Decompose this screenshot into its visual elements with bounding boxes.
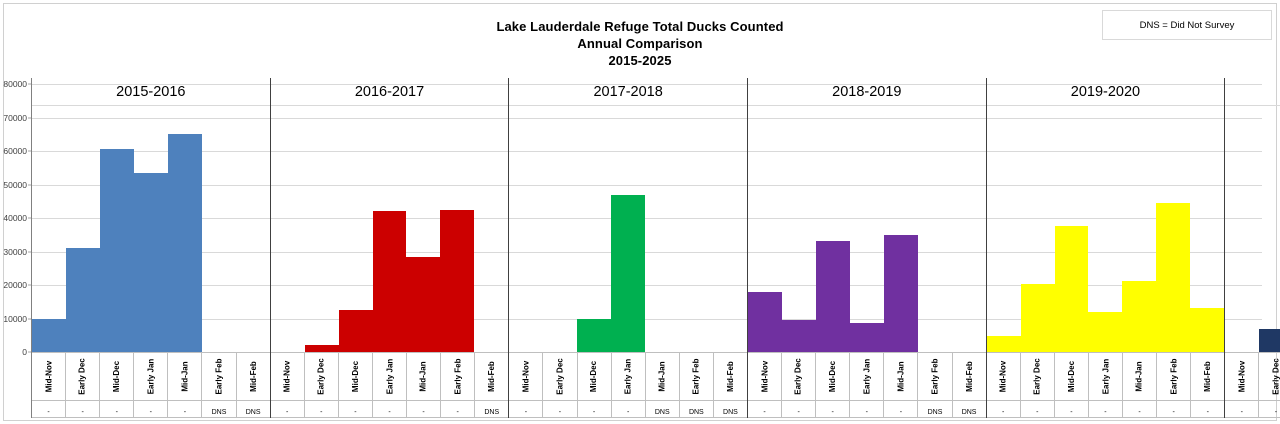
x-axis-tick-label: Early Feb xyxy=(441,353,475,400)
bar-cell xyxy=(577,106,611,352)
bar-cell xyxy=(850,106,884,352)
x-axis-tick-label: Early Dec xyxy=(66,353,100,400)
bar-cell xyxy=(168,106,202,352)
bar-cell xyxy=(748,106,782,352)
bar-cell xyxy=(1088,106,1122,352)
survey-status-surveyed: - xyxy=(168,401,202,417)
x-axis-tick-label: Early Dec xyxy=(305,353,339,400)
bar-cell xyxy=(713,106,747,352)
bar[interactable] xyxy=(1190,308,1224,352)
bar-cell xyxy=(611,106,645,352)
x-axis-tick-label: Mid-Jan xyxy=(168,353,202,400)
x-axis-tick-label: Mid-Nov xyxy=(987,353,1021,400)
x-axis-tick-label: Mid-Nov xyxy=(1225,353,1259,400)
bar[interactable] xyxy=(782,320,816,352)
x-axis-label-row: Mid-NovEarly DecMid-DecEarly JanMid-JanE… xyxy=(987,352,1225,400)
bar-cell xyxy=(474,106,508,352)
bar-cell xyxy=(202,106,236,352)
bar-cell xyxy=(918,106,952,352)
x-axis-tick-label: Mid-Nov xyxy=(32,353,66,400)
bar-cell xyxy=(816,106,850,352)
bar[interactable] xyxy=(987,336,1021,352)
chart-screenshot: Lake Lauderdale Refuge Total Ducks Count… xyxy=(0,0,1280,424)
bar[interactable] xyxy=(440,210,474,352)
y-axis-tick-label: 50000 xyxy=(3,180,27,190)
x-axis-tick-label: Early Dec xyxy=(782,353,816,400)
bar[interactable] xyxy=(748,292,782,352)
survey-status-dns: DNS xyxy=(953,401,986,417)
survey-status-surveyed: - xyxy=(1259,401,1280,417)
bar[interactable] xyxy=(1088,312,1122,352)
group-bars xyxy=(509,106,747,352)
x-axis-tick-label: Mid-Dec xyxy=(100,353,134,400)
bar[interactable] xyxy=(100,149,134,352)
bar-cell xyxy=(1190,106,1224,352)
survey-status-dns: DNS xyxy=(237,401,270,417)
group-season-label: 2018-2019 xyxy=(748,78,986,106)
survey-status-surveyed: - xyxy=(1157,401,1191,417)
group-bars xyxy=(1225,106,1280,352)
survey-status-surveyed: - xyxy=(612,401,646,417)
bar-cell xyxy=(339,106,373,352)
group-season-label: 2015-2016 xyxy=(32,78,270,106)
bar-groups: 2015-2016Mid-NovEarly DecMid-DecEarly Ja… xyxy=(32,78,1262,418)
x-axis-label-row: Mid-NovEarly DecMid-DecEarly JanMid-JanE… xyxy=(32,352,270,400)
survey-status-surveyed: - xyxy=(578,401,612,417)
survey-status-surveyed: - xyxy=(509,401,543,417)
group-season-label: 2016-2017 xyxy=(271,78,509,106)
y-axis-tick-label: 70000 xyxy=(3,113,27,123)
bar-group: 2016-2017Mid-NovEarly DecMid-DecEarly Ja… xyxy=(271,78,510,418)
bar-cell xyxy=(1259,106,1280,352)
bar[interactable] xyxy=(611,195,645,352)
bar-cell xyxy=(100,106,134,352)
bar-group: 2018-2019Mid-NovEarly DecMid-DecEarly Ja… xyxy=(748,78,987,418)
bar[interactable] xyxy=(1122,281,1156,352)
x-axis-tick-label: Mid-Dec xyxy=(578,353,612,400)
survey-status-surveyed: - xyxy=(987,401,1021,417)
x-axis-tick-label: Mid-Feb xyxy=(953,353,986,400)
x-axis-label-row: Mid-NovEarly DecMid-DecEarly JanMid-JanE… xyxy=(271,352,509,400)
bar[interactable] xyxy=(884,235,918,352)
bar-cell xyxy=(543,106,577,352)
survey-status-row: ------- xyxy=(987,400,1225,418)
bar[interactable] xyxy=(373,211,407,352)
survey-status-surveyed: - xyxy=(271,401,305,417)
survey-status-surveyed: - xyxy=(407,401,441,417)
group-bars xyxy=(987,106,1225,352)
x-axis-tick-label: Early Feb xyxy=(918,353,952,400)
survey-status-dns: DNS xyxy=(646,401,680,417)
group-bars xyxy=(271,106,509,352)
x-axis-tick-label: Mid-Feb xyxy=(1191,353,1224,400)
survey-status-surveyed: - xyxy=(1225,401,1259,417)
x-axis-tick-label: Mid-Dec xyxy=(1055,353,1089,400)
bar[interactable] xyxy=(134,173,168,352)
survey-status-row: ------DNS xyxy=(1225,400,1280,418)
bar-cell xyxy=(134,106,168,352)
bar-cell xyxy=(305,106,339,352)
bar-cell xyxy=(66,106,100,352)
survey-status-surveyed: - xyxy=(1191,401,1224,417)
survey-status-surveyed: - xyxy=(816,401,850,417)
bar-cell xyxy=(1225,106,1259,352)
x-axis-tick-label: Early Jan xyxy=(612,353,646,400)
bar-cell xyxy=(782,106,816,352)
survey-status-surveyed: - xyxy=(1055,401,1089,417)
group-bars xyxy=(748,106,986,352)
survey-status-surveyed: - xyxy=(1123,401,1157,417)
survey-status-dns: DNS xyxy=(918,401,952,417)
survey-status-dns: DNS xyxy=(475,401,508,417)
x-axis-tick-label: Mid-Jan xyxy=(1123,353,1157,400)
bar[interactable] xyxy=(1156,203,1190,352)
x-axis-tick-label: Mid-Feb xyxy=(475,353,508,400)
survey-status-surveyed: - xyxy=(884,401,918,417)
bar-cell xyxy=(1055,106,1089,352)
y-axis-tick-label: 20000 xyxy=(3,280,27,290)
bar-cell xyxy=(32,106,66,352)
x-axis-tick-label: Early Jan xyxy=(1089,353,1123,400)
survey-status-row: ----DNSDNSDNS xyxy=(509,400,747,418)
x-axis-tick-label: Early Dec xyxy=(543,353,577,400)
bar[interactable] xyxy=(850,323,884,352)
x-axis-tick-label: Mid-Dec xyxy=(339,353,373,400)
bar-cell xyxy=(406,106,440,352)
bar-cell xyxy=(236,106,270,352)
group-season-label: 2019-2020 xyxy=(987,78,1225,106)
x-axis-tick-label: Early Jan xyxy=(850,353,884,400)
bar[interactable] xyxy=(577,319,611,352)
group-bars xyxy=(32,106,270,352)
bar[interactable] xyxy=(1055,226,1089,352)
bar-cell xyxy=(373,106,407,352)
y-axis: 0100002000030000400005000060000700008000… xyxy=(0,78,31,352)
bar[interactable] xyxy=(66,248,100,352)
y-axis-tick-label: 30000 xyxy=(3,247,27,257)
bar[interactable] xyxy=(168,134,202,352)
survey-status-surveyed: - xyxy=(32,401,66,417)
x-axis-tick-label: Early Dec xyxy=(1259,353,1280,400)
survey-status-row: -----DNSDNS xyxy=(748,400,986,418)
bar[interactable] xyxy=(305,345,339,352)
x-axis-tick-label: Mid-Nov xyxy=(748,353,782,400)
bar[interactable] xyxy=(1259,329,1280,352)
bar-cell xyxy=(1021,106,1055,352)
x-axis-label-row: Mid-NovEarly DecMid-DecEarly JanMid-JanE… xyxy=(509,352,747,400)
x-axis-tick-label: Mid-Jan xyxy=(646,353,680,400)
x-axis-tick-label: Early Feb xyxy=(202,353,236,400)
y-axis-tick-label: 0 xyxy=(22,347,27,357)
y-axis-tick-label: 60000 xyxy=(3,146,27,156)
bar[interactable] xyxy=(339,310,373,352)
y-axis-tick-label: 10000 xyxy=(3,314,27,324)
x-axis-tick-label: Mid-Nov xyxy=(509,353,543,400)
x-axis-label-row: Mid-NovEarly DecMid-DecEarly JanMid-JanE… xyxy=(1225,352,1280,400)
bar-cell xyxy=(645,106,679,352)
plot-wrapper: 0100002000030000400005000060000700008000… xyxy=(0,78,1280,418)
survey-status-surveyed: - xyxy=(100,401,134,417)
bar-group: 2017-2018Mid-NovEarly DecMid-DecEarly Ja… xyxy=(509,78,748,418)
x-axis-tick-label: Early Dec xyxy=(1021,353,1055,400)
x-axis-tick-label: Mid-Jan xyxy=(884,353,918,400)
x-axis-tick-label: Mid-Nov xyxy=(271,353,305,400)
survey-status-surveyed: - xyxy=(66,401,100,417)
x-axis-label-row: Mid-NovEarly DecMid-DecEarly JanMid-JanE… xyxy=(748,352,986,400)
x-axis-tick-label: Mid-Feb xyxy=(714,353,747,400)
bar-cell xyxy=(440,106,474,352)
survey-status-surveyed: - xyxy=(339,401,373,417)
bar-cell xyxy=(884,106,918,352)
survey-status-surveyed: - xyxy=(782,401,816,417)
x-axis-tick-label: Mid-Jan xyxy=(407,353,441,400)
bar-group: 2015-2016Mid-NovEarly DecMid-DecEarly Ja… xyxy=(32,78,271,418)
x-axis-tick-label: Early Jan xyxy=(373,353,407,400)
survey-status-surveyed: - xyxy=(543,401,577,417)
survey-status-row: ------DNS xyxy=(271,400,509,418)
bar-group: 2020-2021Mid-NovEarly DecMid-DecEarly Ja… xyxy=(1225,78,1280,418)
bar-group: 2019-2020Mid-NovEarly DecMid-DecEarly Ja… xyxy=(987,78,1226,418)
survey-status-surveyed: - xyxy=(1089,401,1123,417)
x-axis-tick-label: Early Jan xyxy=(134,353,168,400)
survey-status-dns: DNS xyxy=(714,401,747,417)
survey-status-surveyed: - xyxy=(850,401,884,417)
survey-status-row: -----DNSDNS xyxy=(32,400,270,418)
survey-status-surveyed: - xyxy=(441,401,475,417)
group-season-label: 2020-2021 xyxy=(1225,78,1280,106)
survey-status-surveyed: - xyxy=(1021,401,1055,417)
survey-status-dns: DNS xyxy=(680,401,714,417)
bar-cell xyxy=(679,106,713,352)
bar-cell xyxy=(952,106,986,352)
dns-legend-text: DNS = Did Not Survey xyxy=(1140,20,1235,31)
bar-cell xyxy=(509,106,543,352)
bar[interactable] xyxy=(406,257,440,352)
bar-cell xyxy=(1156,106,1190,352)
dns-legend: DNS = Did Not Survey xyxy=(1102,10,1272,40)
bar-cell xyxy=(987,106,1021,352)
survey-status-surveyed: - xyxy=(305,401,339,417)
y-axis-tick-label: 80000 xyxy=(3,79,27,89)
y-axis-tick-label: 40000 xyxy=(3,213,27,223)
x-axis-tick-label: Mid-Feb xyxy=(237,353,270,400)
bar[interactable] xyxy=(816,241,850,352)
x-axis-tick-label: Early Feb xyxy=(1157,353,1191,400)
bar-cell xyxy=(1122,106,1156,352)
bar[interactable] xyxy=(32,319,66,353)
plot-area: 2015-2016Mid-NovEarly DecMid-DecEarly Ja… xyxy=(31,78,1262,418)
survey-status-surveyed: - xyxy=(748,401,782,417)
bar[interactable] xyxy=(1021,284,1055,352)
x-axis-tick-label: Early Feb xyxy=(680,353,714,400)
x-axis-tick-label: Mid-Dec xyxy=(816,353,850,400)
survey-status-surveyed: - xyxy=(134,401,168,417)
group-season-label: 2017-2018 xyxy=(509,78,747,106)
survey-status-surveyed: - xyxy=(373,401,407,417)
bar-cell xyxy=(271,106,305,352)
survey-status-dns: DNS xyxy=(202,401,236,417)
